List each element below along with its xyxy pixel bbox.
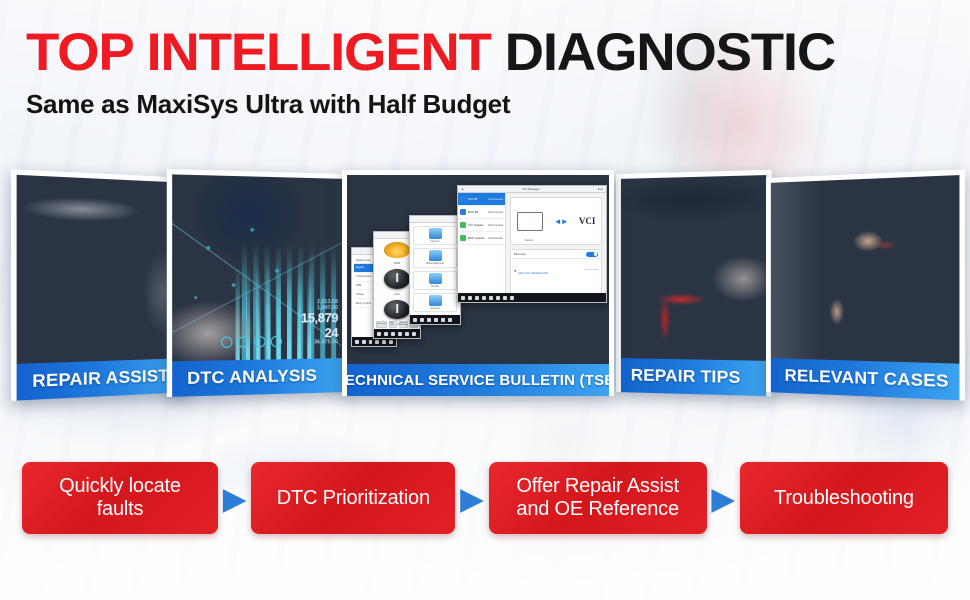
- settings-icon[interactable]: [510, 296, 514, 300]
- circle-indicator: [254, 336, 265, 347]
- vci-item-status: Disconnected: [489, 224, 504, 227]
- navbar-icon[interactable]: [412, 332, 416, 336]
- back-icon[interactable]: [461, 296, 465, 300]
- flow-step-dtc-prioritization[interactable]: DTC Prioritization: [251, 462, 455, 534]
- tablet-device-icon: [517, 212, 543, 231]
- card-label-dtc-analysis: DTC ANALYSIS: [172, 358, 343, 397]
- vci-list-item-bas-bt[interactable]: BAS BT Disconnected: [458, 206, 505, 219]
- navbar-icon[interactable]: [375, 340, 379, 344]
- service-tile-label: Steering: [431, 307, 440, 310]
- dial-label: AFS: [394, 293, 399, 296]
- steering-icon: [429, 295, 442, 306]
- update-icon: [460, 235, 466, 241]
- vci-main-panel: ◄► VCI Devices Bluetooth ●: [506, 193, 606, 293]
- vci-sidebar: VCI BT Disconnected BAS BT Disconnected …: [458, 193, 506, 293]
- paired-device-status: Disconnected: [585, 269, 598, 271]
- paired-device-row[interactable]: ● Maxi-VCI-V190101-105 Disconnected: [511, 259, 601, 281]
- technician-clipboard-photo: RELEVANT CASES: [771, 175, 960, 400]
- feature-card-dtc-analysis[interactable]: 2,013.58 1,047.00 15,879 24 36.475.00 DT…: [167, 169, 348, 397]
- bluetooth-toggle[interactable]: [586, 252, 598, 257]
- dtc-tiny-number: 36.475.00: [301, 341, 338, 347]
- vci-list-item-bas-update[interactable]: BAS Update Disconnected: [458, 232, 505, 245]
- service-tile[interactable]: Wheel alignment: [413, 248, 457, 267]
- navbar-icon[interactable]: [420, 318, 424, 322]
- vci-item-status: Disconnected: [489, 237, 504, 240]
- circle-indicator-row: [221, 336, 282, 348]
- navbar-icon[interactable]: [434, 318, 438, 322]
- service-tile[interactable]: Throttle: [413, 271, 457, 290]
- bluetooth-label: Bluetooth: [514, 252, 526, 256]
- service-tile[interactable]: Oil reset: [413, 226, 457, 245]
- screenshot-icon[interactable]: [482, 296, 486, 300]
- sun-gauge-icon: [384, 242, 410, 258]
- circle-indicator: [221, 337, 233, 349]
- tablet-navbar[interactable]: [458, 293, 606, 302]
- navbar-icon[interactable]: [382, 340, 386, 344]
- card-label-repair-tips: REPAIR TIPS: [621, 358, 766, 396]
- vci-item-label: BAS Update: [468, 236, 485, 240]
- feature-card-repair-tips[interactable]: REPAIR TIPS: [616, 170, 772, 397]
- oil-reset-icon: [429, 228, 442, 239]
- navbar-icon[interactable]: [427, 318, 431, 322]
- navbar-icon[interactable]: [441, 318, 445, 322]
- dtc-numeric-overlay: 2,013.58 1,047.00 15,879 24 36.475.00: [301, 300, 338, 347]
- dtc-big-number-1: 15,879: [301, 311, 338, 326]
- process-flow-row: Quickly locate faults ▶ DTC Prioritizati…: [0, 452, 970, 544]
- dial-knob-icon[interactable]: [384, 269, 410, 288]
- bluetooth-icon: [460, 209, 466, 215]
- feature-card-relevant-cases[interactable]: RELEVANT CASES: [766, 169, 965, 400]
- paired-device-name: Maxi-VCI-V190101-105: [518, 271, 547, 275]
- update-icon: [460, 222, 466, 228]
- vci-item-label: VCI Update: [468, 223, 484, 227]
- navbar-icon[interactable]: [369, 340, 373, 344]
- service-tile-label: Wheel alignment: [426, 262, 444, 265]
- battery-icon[interactable]: [503, 296, 507, 300]
- tablet-screenshots-photo: System List Engine Transmission ABS Airb…: [347, 175, 609, 396]
- record-icon[interactable]: [489, 296, 493, 300]
- card-label-relevant-cases: RELEVANT CASES: [771, 358, 960, 400]
- vci-list-item-vci-update[interactable]: VCI Update Disconnected: [458, 219, 505, 232]
- home-icon[interactable]: [468, 296, 472, 300]
- vci-logo-icon: VCI: [579, 216, 596, 226]
- feature-card-repair-assist[interactable]: REPAIR ASSIST: [11, 169, 190, 401]
- tablet-window-service-grid[interactable]: Oil reset Wheel alignment Throttle: [409, 215, 461, 325]
- multimeter-engine-photo: REPAIR TIPS: [621, 175, 766, 396]
- bluetooth-icon: ●: [514, 268, 516, 273]
- dial-button[interactable]: Latest Record: [399, 321, 408, 328]
- service-tile-label: Oil reset: [431, 240, 440, 243]
- navbar-icon[interactable]: [398, 332, 402, 336]
- feature-card-deck: REPAIR ASSIST 2,013.58 1,047.00 15,879 2…: [0, 168, 970, 400]
- vci-item-status: Disconnected: [489, 211, 504, 214]
- link-arrows-icon: ◄►: [554, 217, 568, 226]
- headline-black-text: DIAGNOSTIC: [505, 23, 835, 82]
- device-caption: Devices: [525, 239, 534, 242]
- home-icon[interactable]: ▲: [461, 187, 464, 191]
- circle-indicator: [271, 336, 282, 347]
- camera-icon[interactable]: [496, 296, 500, 300]
- vci-device-panel: ◄► VCI Devices: [510, 197, 602, 245]
- navbar-icon[interactable]: [355, 340, 359, 344]
- window-titlebar: ▲ VCI Manager Exit: [458, 186, 606, 193]
- vci-list-item-vci-bt[interactable]: VCI BT Disconnected: [458, 193, 505, 206]
- navbar-icon[interactable]: [448, 318, 452, 322]
- bluetooth-icon: [460, 196, 466, 202]
- feature-card-tsb[interactable]: System List Engine Transmission ABS Airb…: [342, 170, 614, 396]
- service-tile[interactable]: Steering: [413, 293, 457, 312]
- headline-block: TOP INTELLIGENT DIAGNOSTIC Same as MaxiS…: [26, 26, 811, 120]
- flow-arrow-icon: ▶: [707, 483, 740, 514]
- print-icon[interactable]: [475, 296, 479, 300]
- window-titlebar: [410, 216, 460, 223]
- dial-label: DRM: [394, 262, 400, 265]
- tablet-window-vci-manager[interactable]: ▲ VCI Manager Exit VCI BT Disconnected B: [457, 185, 607, 303]
- card-label-repair-assist: REPAIR ASSIST: [17, 358, 186, 400]
- page-subtitle: Same as MaxiSys Ultra with Half Budget: [26, 89, 811, 120]
- dial-knob-icon[interactable]: [384, 300, 410, 319]
- throttle-icon: [429, 273, 442, 284]
- navbar-icon[interactable]: [389, 340, 393, 344]
- vci-item-label: VCI BT: [468, 197, 478, 201]
- navbar-icon[interactable]: [405, 332, 409, 336]
- circle-indicator: [238, 336, 249, 347]
- navbar-icon[interactable]: [377, 332, 381, 336]
- flow-step-troubleshooting[interactable]: Troubleshooting: [740, 462, 948, 534]
- headline-red-text: TOP INTELLIGENT: [26, 23, 491, 82]
- dial-button[interactable]: Domestic: [376, 321, 387, 328]
- card-label-tsb: TECHNICAL SERVICE BULLETIN (TSB): [347, 364, 609, 396]
- vci-item-label: BAS BT: [468, 210, 479, 214]
- data-analytics-photo: 2,013.58 1,047.00 15,879 24 36.475.00 DT…: [172, 174, 343, 396]
- tablet-navbar[interactable]: [410, 315, 460, 324]
- exit-button[interactable]: Exit: [598, 187, 603, 191]
- tablet-navbar[interactable]: [374, 329, 420, 338]
- navbar-icon[interactable]: [384, 332, 388, 336]
- navbar-icon[interactable]: [413, 318, 417, 322]
- analyst-hand-shape: [172, 286, 266, 368]
- bluetooth-header: Bluetooth: [511, 250, 601, 259]
- vci-window-title: VCI Manager: [522, 187, 540, 191]
- service-tile-label: Throttle: [431, 285, 439, 288]
- navbar-icon[interactable]: [362, 340, 366, 344]
- flow-step-offer-repair-assist[interactable]: Offer Repair Assist and OE Reference: [489, 462, 707, 534]
- navbar-icon[interactable]: [391, 332, 395, 336]
- wheel-alignment-icon: [429, 250, 442, 261]
- page-title: TOP INTELLIGENT DIAGNOSTIC: [26, 26, 835, 79]
- vci-item-status: Disconnected: [489, 198, 504, 201]
- flow-arrow-icon: ▶: [218, 483, 251, 514]
- flow-arrow-icon: ▶: [455, 483, 488, 514]
- flow-step-quickly-locate-faults[interactable]: Quickly locate faults: [22, 462, 218, 534]
- engine-bay-photo: REPAIR ASSIST: [17, 175, 186, 401]
- dial-button[interactable]: Asia LHD: [389, 321, 398, 328]
